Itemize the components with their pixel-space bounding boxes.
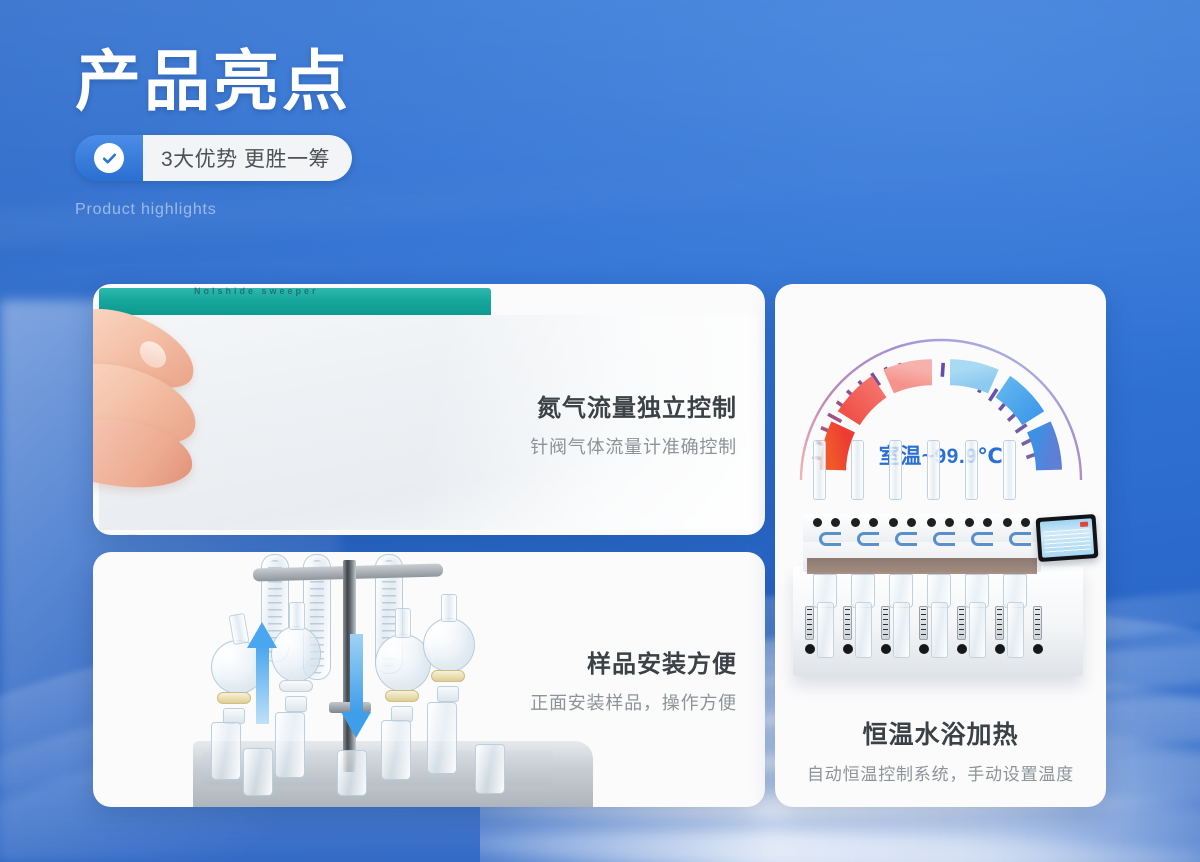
valve-knob[interactable]: [1021, 518, 1030, 527]
lower-knob[interactable]: [919, 644, 929, 654]
blue-hose: [971, 532, 993, 546]
lower-flowmeter: [843, 606, 852, 640]
water-bath-title: 恒温水浴加热: [775, 715, 1106, 751]
station-riser: [813, 440, 826, 500]
lower-knob[interactable]: [995, 644, 1005, 654]
lower-flowmeter: [995, 606, 1004, 640]
valve-knob[interactable]: [889, 518, 898, 527]
collection-bottle: [427, 702, 457, 774]
valve-knob[interactable]: [869, 518, 878, 527]
hand-illustration: [93, 312, 239, 487]
station-riser: [927, 440, 940, 500]
flow-control-title: 氮气流量独立控制: [530, 388, 737, 423]
page-header: 产品亮点 3大优势 更胜一筹 Product highlights: [75, 46, 635, 219]
instrument-top-bar: Nolshide sweeper: [99, 288, 491, 315]
valve-knob[interactable]: [1003, 518, 1012, 527]
check-circle-icon: [94, 143, 124, 173]
device-water-bath: [807, 558, 1037, 574]
fingernail: [115, 530, 154, 535]
highlight-card-sample-mounting[interactable]: 样品安装方便 正面安装样品，操作方便: [93, 552, 765, 807]
arrow-shaft: [256, 646, 269, 724]
sample-mounting-copy: 样品安装方便 正面安装样品，操作方便: [530, 644, 737, 715]
page-subtitle: Product highlights: [75, 201, 635, 219]
flask-neck: [289, 602, 305, 630]
ground-joint: [285, 696, 307, 712]
valve-knob[interactable]: [907, 518, 916, 527]
collection-bottle: [211, 722, 241, 780]
touchscreen-panel[interactable]: [1036, 514, 1099, 562]
blue-hose: [933, 532, 955, 546]
lower-knob[interactable]: [957, 644, 967, 654]
water-bath-subtitle: 自动恒温控制系统，手动设置温度: [775, 760, 1106, 785]
station-riser: [965, 440, 978, 500]
stopcock: [431, 670, 465, 682]
valve-knob[interactable]: [965, 518, 974, 527]
lower-knob[interactable]: [881, 644, 891, 654]
stopcock: [385, 690, 419, 702]
absorption-tube: [931, 602, 948, 658]
lower-flowmeter: [805, 606, 814, 640]
advantages-badge: 3大优势 更胜一筹: [75, 135, 352, 181]
badge-icon-area: [75, 135, 143, 181]
temperature-gauge: 室温~99.9℃: [793, 320, 1089, 486]
ground-joint: [437, 686, 459, 702]
lcd-display: [1040, 518, 1094, 558]
flask-neck: [395, 608, 411, 638]
lower-flowmeter: [881, 606, 890, 640]
collection-bottle: [275, 712, 305, 778]
lower-knob[interactable]: [805, 644, 815, 654]
blue-hose: [857, 532, 879, 546]
absorption-tube: [893, 602, 910, 658]
arrow-down-icon: [341, 634, 371, 738]
gauge-range-label: 室温~99.9℃: [793, 440, 1089, 470]
sample-mounting-subtitle: 正面安装样品，操作方便: [530, 689, 737, 715]
lower-flowmeter: [957, 606, 966, 640]
blue-hose: [895, 532, 917, 546]
flask-neck: [441, 594, 457, 622]
sample-mounting-title: 样品安装方便: [530, 644, 737, 679]
blue-hose: [819, 532, 841, 546]
station-riser: [851, 440, 864, 500]
absorption-tube: [817, 602, 834, 658]
flow-control-subtitle: 针阀气体流量计准确控制: [530, 433, 737, 459]
highlight-card-water-bath[interactable]: 室温~99.9℃: [775, 284, 1106, 807]
water-bath-copy: 恒温水浴加热 自动恒温控制系统，手动设置温度: [775, 715, 1106, 785]
station-riser: [1003, 440, 1016, 500]
valve-knob[interactable]: [831, 518, 840, 527]
collection-bottle: [337, 750, 367, 796]
stopcock: [279, 680, 313, 692]
lower-flowmeter: [919, 606, 928, 640]
valve-knob[interactable]: [945, 518, 954, 527]
arrow-head: [341, 712, 371, 738]
absorption-tube: [855, 602, 872, 658]
arrow-up-icon: [247, 622, 277, 726]
flow-control-copy: 氮气流量独立控制 针阀气体流量计准确控制: [530, 388, 737, 459]
valve-knob[interactable]: [983, 518, 992, 527]
instrument-bar-label: Nolshide sweeper: [194, 286, 319, 296]
page-title: 产品亮点: [75, 46, 635, 117]
collection-bottle: [381, 720, 411, 780]
collection-bottle: [475, 744, 505, 794]
arrow-head: [247, 622, 277, 648]
stopcock: [217, 692, 251, 704]
valve-knob[interactable]: [813, 518, 822, 527]
highlight-card-flow-control[interactable]: Nolshide sweeper: [93, 284, 765, 535]
collection-bottle: [243, 748, 273, 796]
badge-label: 3大优势 更胜一筹: [143, 135, 352, 181]
absorption-tube: [969, 602, 986, 658]
fingernail: [135, 336, 172, 373]
valve-knob[interactable]: [851, 518, 860, 527]
lower-flowmeter: [1033, 606, 1042, 640]
round-flask: [271, 626, 321, 682]
water-bath-device-photo: [789, 474, 1094, 689]
round-flask: [423, 618, 475, 672]
station-riser: [889, 440, 902, 500]
valve-row: [807, 518, 1037, 528]
absorption-tube: [1007, 602, 1024, 658]
blue-hose: [1009, 532, 1031, 546]
arrow-shaft: [350, 634, 363, 712]
lower-knob[interactable]: [843, 644, 853, 654]
lower-knob[interactable]: [1033, 644, 1043, 654]
valve-knob[interactable]: [927, 518, 936, 527]
